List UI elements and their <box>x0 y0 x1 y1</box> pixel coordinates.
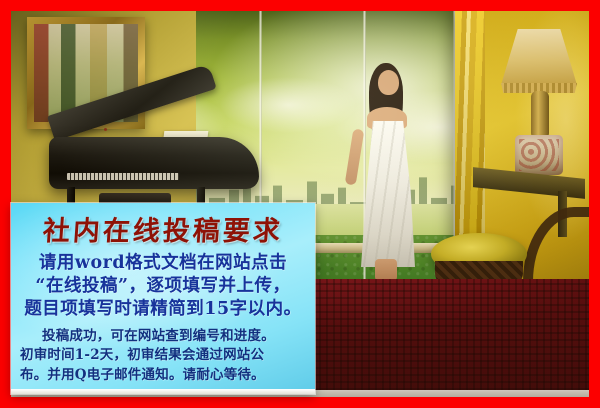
woman-arm <box>345 128 365 185</box>
lamp-stem <box>531 91 549 139</box>
woman-face <box>378 70 399 95</box>
panel-note-text: 投稿成功，可在网站查到编号和进度。 初审时间1-2天，初审结果会通过网站公 布。… <box>20 327 306 384</box>
note-line-1: 投稿成功，可在网站查到编号和进度。 <box>20 327 306 346</box>
body-line-1: 请用word格式文档在网站点击 <box>19 252 307 275</box>
panel-bottom-strip <box>11 389 315 394</box>
note-line-3: 布。并用Q电子邮件通知。请耐心等待。 <box>20 366 306 385</box>
lamp-base <box>515 135 563 175</box>
woman-figure <box>341 63 433 279</box>
panel-title: 社内在线投稿要求 <box>11 209 315 248</box>
body-line-2: “在线投稿”，逐项填写并上传， <box>19 275 307 298</box>
panel-body-text: 请用word格式文档在网站点击 “在线投稿”，逐项填写并上传， 题目项填写时请精… <box>19 252 307 320</box>
piano-keys <box>67 173 179 180</box>
announcement-panel: 社内在线投稿要求 请用word格式文档在网站点击 “在线投稿”，逐项填写并上传，… <box>11 203 315 394</box>
poster: 社内在线投稿要求 请用word格式文档在网站点击 “在线投稿”，逐项填写并上传，… <box>0 0 600 408</box>
dress-folds <box>361 121 415 267</box>
woman-legs <box>375 259 397 281</box>
grand-piano-body <box>49 137 259 189</box>
note-line-2: 初审时间1-2天，初审结果会通过网站公 <box>20 346 306 365</box>
body-line-3: 题目项填写时请精简到15字以内。 <box>19 298 307 321</box>
